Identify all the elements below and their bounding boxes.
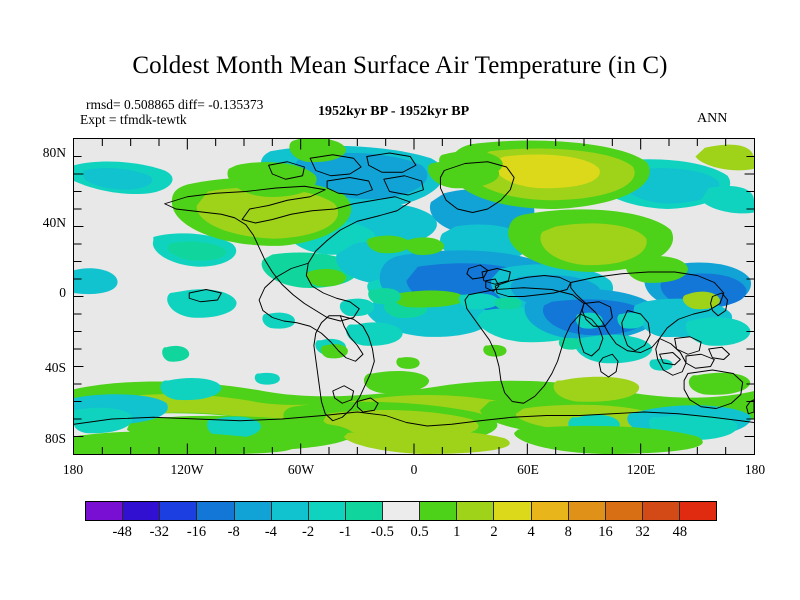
colorbar-cell-3[interactable] (197, 502, 234, 520)
y-axis-label-40s: 40S (20, 360, 66, 376)
colorbar-tick-32: 32 (635, 524, 650, 541)
colorbar-tick-labels: -48-32-16-8-4-2-1-0.50.51248163248 (0, 524, 800, 546)
season-label: ANN (697, 111, 727, 127)
map-plot-area (73, 138, 755, 455)
experiment-label: Expt = tfmdk-tewtk (80, 112, 187, 128)
colorbar-tick-8: 8 (565, 524, 572, 541)
x-axis-label-60e: 60E (498, 462, 558, 478)
case-comparison-label: 1952kyr BP - 1952kyr BP (318, 104, 469, 120)
rmsd-stats-label: rmsd= 0.508865 diff= -0.135373 (86, 97, 263, 113)
y-axis-label-40n: 40N (20, 215, 66, 231)
colorbar-cell-1[interactable] (123, 502, 160, 520)
y-axis-label-0: 0 (20, 285, 66, 301)
page-title: Coldest Month Mean Surface Air Temperatu… (0, 52, 800, 80)
colorbar-tick-16: 16 (598, 524, 613, 541)
colorbar-tick--32: -32 (150, 524, 169, 541)
colorbar-tick-4: 4 (527, 524, 534, 541)
colorbar-tick--8: -8 (228, 524, 240, 541)
x-axis-label-180e: 180 (725, 462, 785, 478)
y-axis-label-80s: 80S (20, 431, 66, 447)
colorbar-cell-7[interactable] (346, 502, 383, 520)
colorbar-cell-16[interactable] (680, 502, 716, 520)
colorbar-tick--2: -2 (302, 524, 314, 541)
colorbar-cell-14[interactable] (606, 502, 643, 520)
colorbar-cell-11[interactable] (494, 502, 531, 520)
colorbar-cell-15[interactable] (643, 502, 680, 520)
x-axis-label-60w: 60W (271, 462, 331, 478)
colorbar-tick--4: -4 (265, 524, 277, 541)
x-axis-label-120w: 120W (157, 462, 217, 478)
colorbar-tick-0.5: 0.5 (411, 524, 429, 541)
x-axis-label-120e: 120E (611, 462, 671, 478)
colorbar-cell-5[interactable] (272, 502, 309, 520)
colorbar-cell-0[interactable] (86, 502, 123, 520)
colorbar-cell-10[interactable] (457, 502, 494, 520)
colorbar-tick--16: -16 (187, 524, 206, 541)
colorbar-cell-2[interactable] (160, 502, 197, 520)
colorbar-cell-9[interactable] (420, 502, 457, 520)
map-canvas (74, 139, 754, 454)
climate-map-figure: Coldest Month Mean Surface Air Temperatu… (0, 0, 800, 600)
colorbar-cell-6[interactable] (309, 502, 346, 520)
colorbar-cell-13[interactable] (569, 502, 606, 520)
colorbar-cell-4[interactable] (235, 502, 272, 520)
colorbar-tick-48: 48 (673, 524, 688, 541)
colorbar-cell-12[interactable] (532, 502, 569, 520)
colorbar-tick--48: -48 (113, 524, 132, 541)
y-axis-label-80n: 80N (20, 145, 66, 161)
colorbar-cell-8[interactable] (383, 502, 420, 520)
colorbar-tick--0.5: -0.5 (371, 524, 394, 541)
x-axis-label-180w: 180 (43, 462, 103, 478)
x-axis-label-0: 0 (384, 462, 444, 478)
colorbar-tick--1: -1 (339, 524, 351, 541)
colorbar-tick-2: 2 (490, 524, 497, 541)
colorbar[interactable] (85, 501, 717, 521)
colorbar-tick-1: 1 (453, 524, 460, 541)
